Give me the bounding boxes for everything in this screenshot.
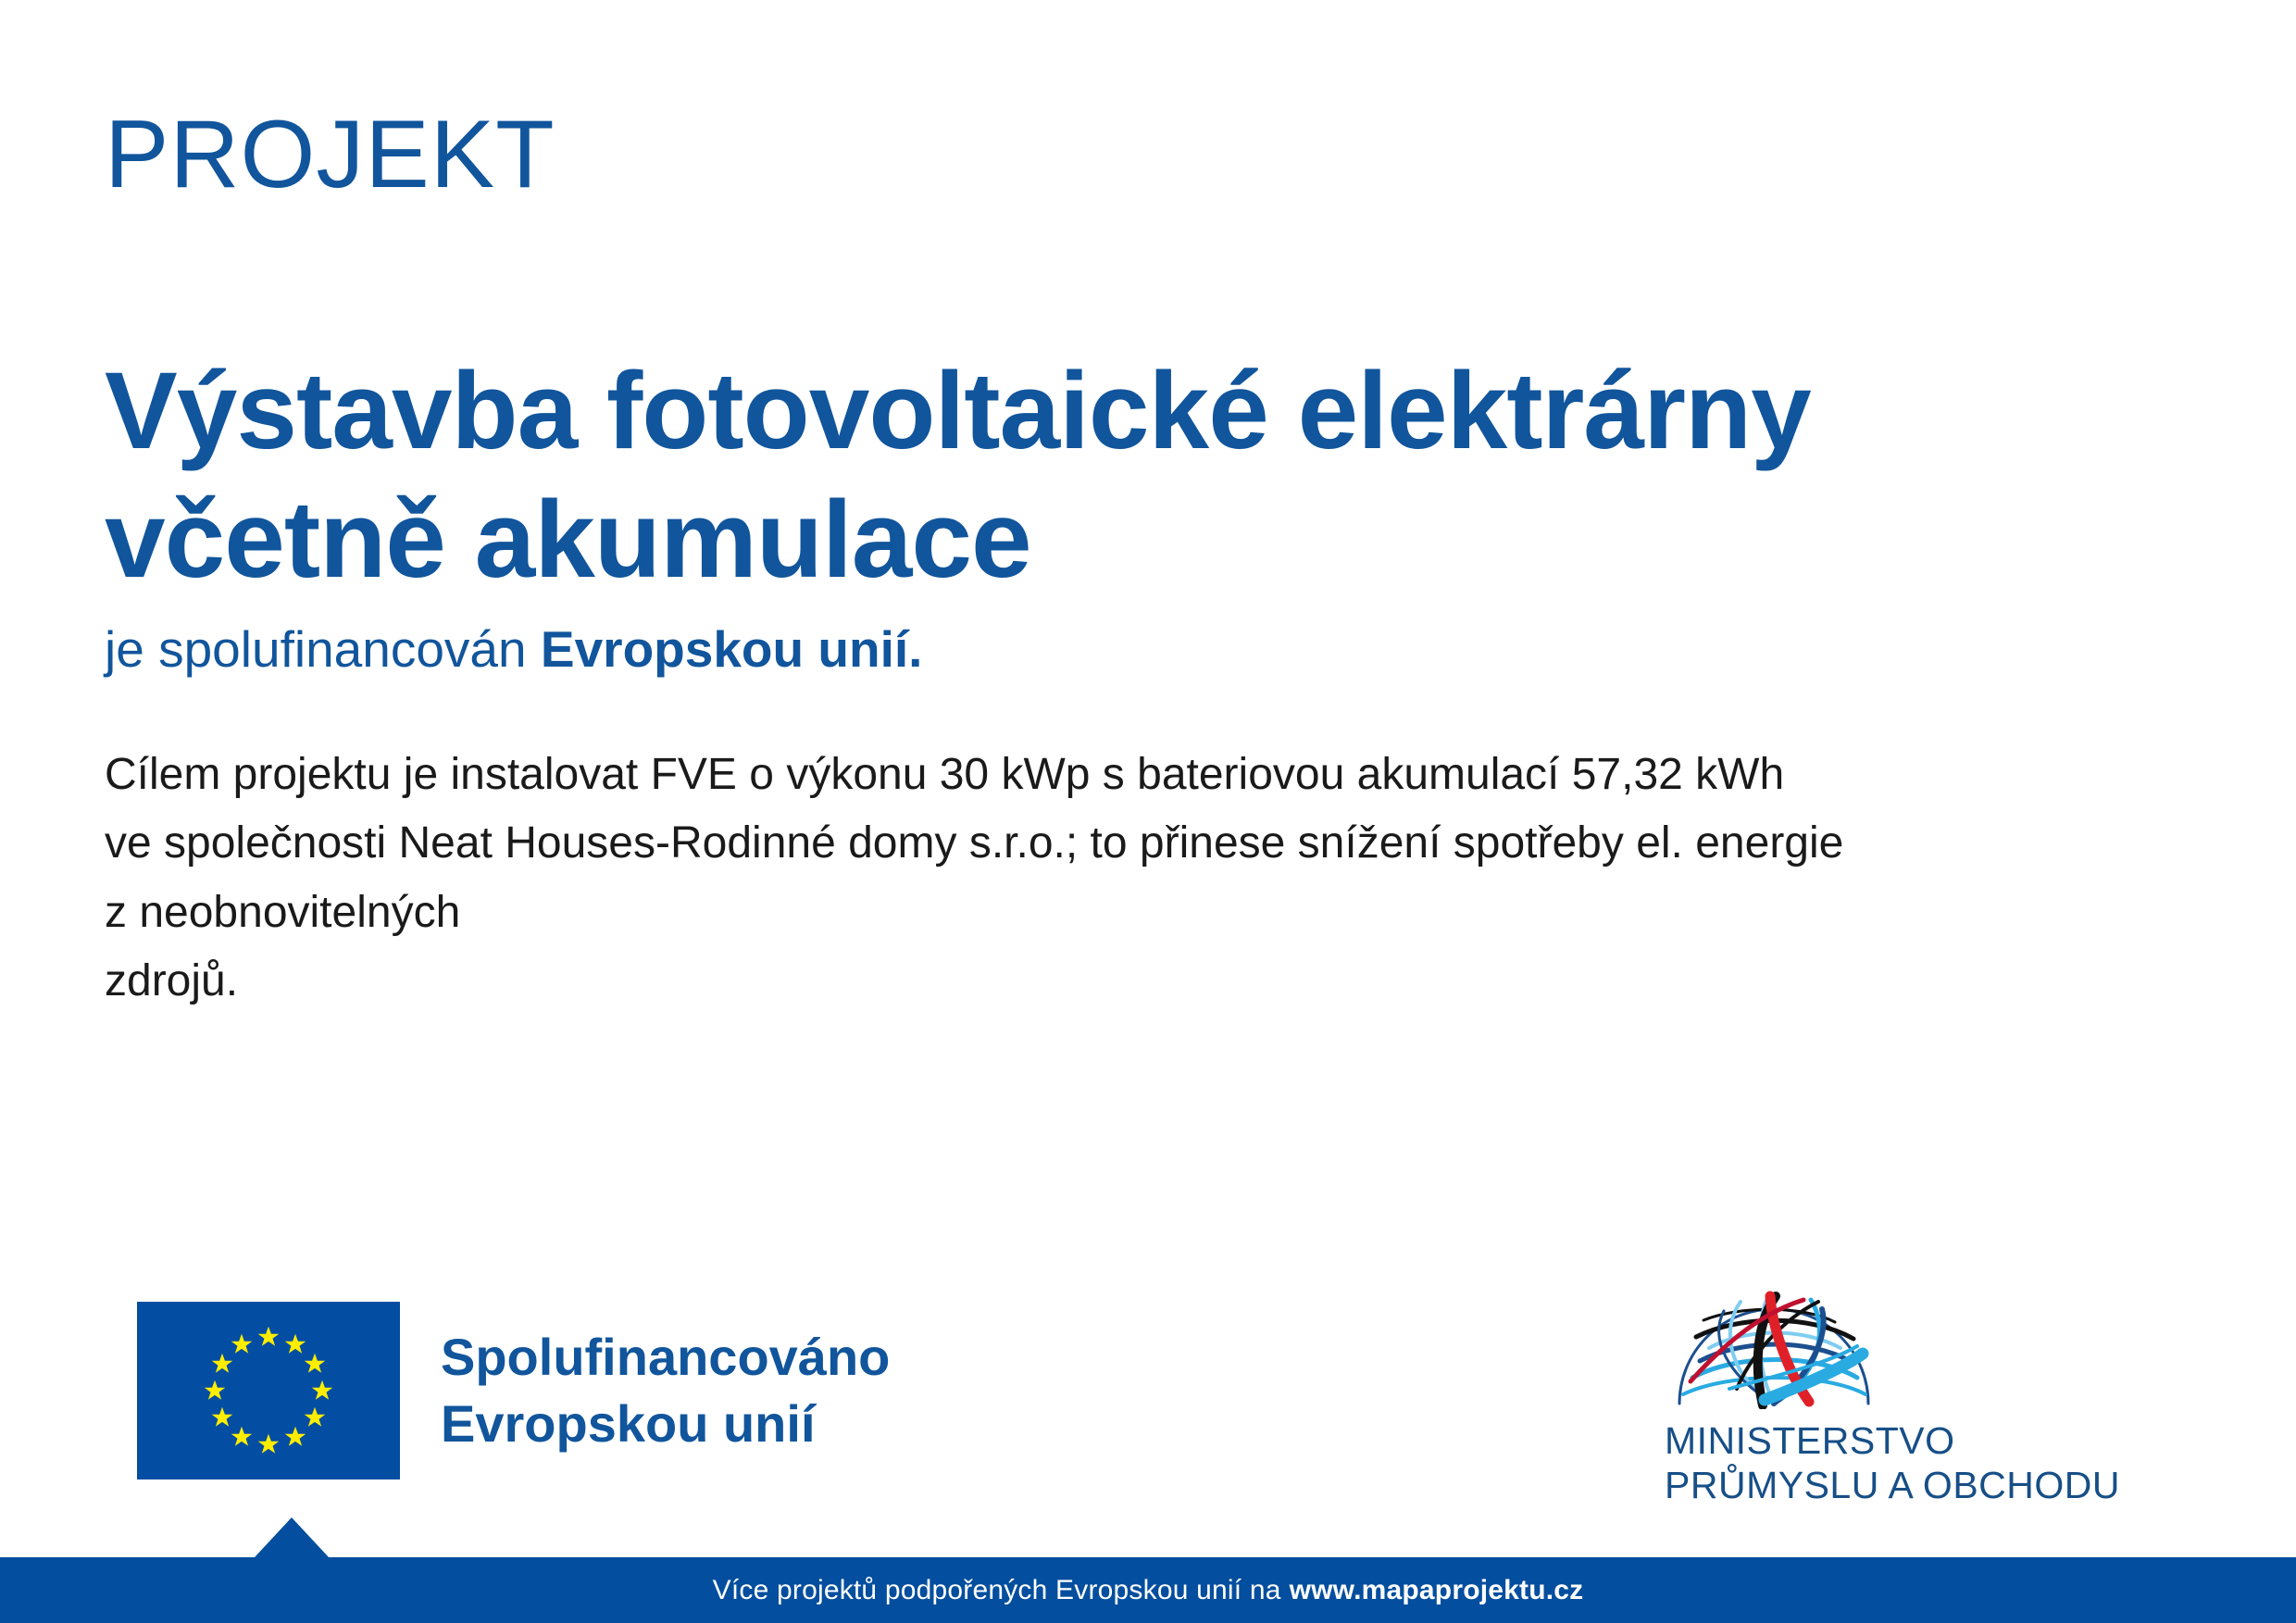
page-title: Výstavba fotovoltaické elektrárny včetně… bbox=[105, 347, 2049, 605]
ministry-logo-caption: MINISTERSTVO PRŮMYSLU A OBCHODU bbox=[1665, 1418, 2072, 1508]
ministry-logo-caption-line-2: PRŮMYSLU A OBCHODU bbox=[1665, 1463, 2072, 1507]
cofinance-lead: je spolufinancován bbox=[105, 620, 541, 678]
footer-caption-lead: Více projektů podpořených Evropskou unií… bbox=[713, 1575, 1281, 1606]
ministry-logo-caption-line-1: MINISTERSTVO bbox=[1665, 1418, 2072, 1463]
eu-star-icon bbox=[283, 1425, 307, 1449]
footer-url[interactable]: www.mapaprojektu.cz bbox=[1290, 1575, 1584, 1606]
page-eyebrow: PROJEKT bbox=[105, 102, 555, 207]
page-title-line-2: včetně akumulace bbox=[105, 476, 2049, 605]
poster-canvas: PROJEKT Výstavba fotovoltaické elektrárn… bbox=[0, 0, 2296, 1623]
project-description: Cílem projektu je instalovat FVE o výkon… bbox=[105, 741, 2188, 1017]
ministry-globe-icon bbox=[1672, 1268, 1876, 1409]
eu-star-icon bbox=[310, 1379, 334, 1403]
project-description-line-2: ve společnosti Neat Houses-Rodinné domy … bbox=[105, 809, 2188, 878]
project-description-line-4: zdrojů. bbox=[105, 947, 2188, 1016]
eu-star-icon bbox=[210, 1405, 234, 1429]
eu-emblem-caption-line-1: Spolufinancováno bbox=[441, 1324, 890, 1391]
ministry-logo: MINISTERSTVO PRŮMYSLU A OBCHODU bbox=[1665, 1268, 2072, 1508]
eu-star-icon bbox=[256, 1325, 281, 1349]
eu-star-icon bbox=[230, 1332, 254, 1356]
project-description-line-3: z neobnovitelných bbox=[105, 879, 2188, 947]
page-title-line-1: Výstavba fotovoltaické elektrárny bbox=[105, 347, 2049, 476]
footer-notch-triangle bbox=[255, 1517, 329, 1557]
footer-caption: Více projektů podpořených Evropskou unií… bbox=[0, 1557, 2296, 1623]
cofinance-emphasis: Evropskou unií. bbox=[541, 620, 923, 678]
eu-star-icon bbox=[256, 1432, 281, 1456]
eu-star-icon bbox=[203, 1379, 227, 1403]
project-description-line-1: Cílem projektu je instalovat FVE o výkon… bbox=[105, 741, 2188, 809]
eu-emblem-caption: Spolufinancováno Evropskou unií bbox=[441, 1324, 890, 1456]
eu-star-icon bbox=[303, 1352, 327, 1376]
eu-flag-icon bbox=[137, 1302, 400, 1479]
eu-emblem-caption-line-2: Evropskou unií bbox=[441, 1391, 890, 1457]
eu-emblem-lockup: Spolufinancováno Evropskou unií bbox=[137, 1302, 890, 1479]
cofinance-statement: je spolufinancován Evropskou unií. bbox=[105, 618, 922, 680]
